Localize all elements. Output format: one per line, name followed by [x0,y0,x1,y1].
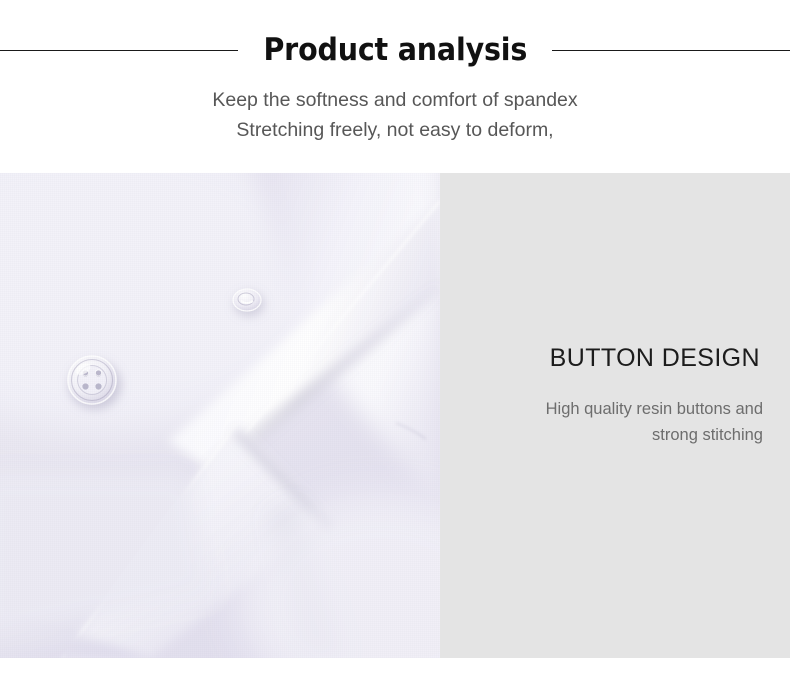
subtitle-block: Keep the softness and comfort of spandex… [0,85,790,145]
title-row: Product analysis [0,27,790,73]
title-rule-left [0,50,238,51]
shirt-illustration [0,173,440,658]
product-photo [0,173,440,658]
subtitle-line-2: Stretching freely, not easy to deform, [0,115,790,145]
product-analysis-page: Product analysis Keep the softness and c… [0,0,790,690]
panel-body: High quality resin buttons and strong st… [463,396,763,448]
info-panel: BUTTON DESIGN High quality resin buttons… [440,173,790,658]
panel-body-line-1: High quality resin buttons and [463,396,763,422]
page-title: Product analysis [263,35,527,66]
subtitle-line-1: Keep the softness and comfort of spandex [0,85,790,115]
panel-heading: BUTTON DESIGN [550,346,760,371]
title-rule-right [552,50,790,51]
header-section: Product analysis Keep the softness and c… [0,0,790,173]
content-band: BUTTON DESIGN High quality resin buttons… [0,173,790,658]
panel-body-line-2: strong stitching [463,422,763,448]
